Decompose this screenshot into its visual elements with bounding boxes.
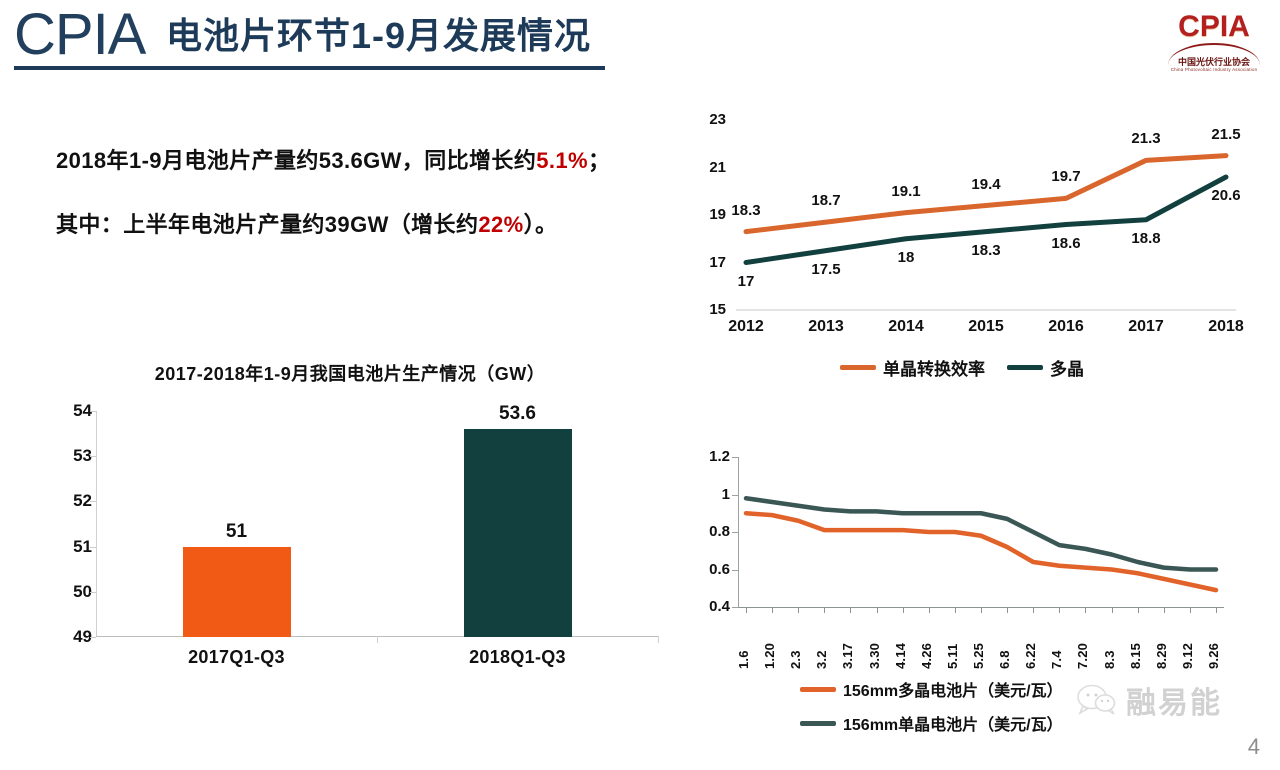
x-tick-label: 8.3	[1102, 650, 1117, 669]
production-bar-chart-title: 2017-2018年1-9月我国电池片生产情况（GW）	[24, 360, 676, 386]
y-tick	[90, 501, 96, 502]
y-tick-label: 1	[690, 486, 730, 504]
y-tick	[90, 637, 96, 638]
x-tick-label: 3.17	[840, 643, 855, 669]
slide: CPIA 电池片环节1-9月发展情况 CPIA 中国光伏行业协会 China P…	[0, 0, 1280, 770]
production-bar-chart-y-axis	[96, 411, 97, 637]
series-line	[746, 513, 1216, 590]
x-tick	[798, 607, 799, 613]
x-tick-label: 3.30	[867, 643, 882, 669]
data-point-label: 18	[871, 249, 941, 266]
x-tick	[746, 607, 747, 613]
x-tick-label: 5.25	[971, 643, 986, 669]
y-tick	[732, 607, 738, 608]
data-point-label: 18.8	[1111, 230, 1181, 247]
summary-line-1: 2018年1-9月电池片产量约53.6GW，同比增长约5.1%；	[56, 146, 676, 176]
x-tick	[850, 607, 851, 613]
summary-line-2: 其中：上半年电池片产量约39GW（增长约22%）。	[56, 210, 676, 240]
x-tick	[955, 607, 956, 613]
page-title: 电池片环节1-9月发展情况	[166, 14, 591, 58]
x-tick	[1190, 607, 1191, 613]
data-point-label: 20.6	[1191, 187, 1261, 204]
y-tick	[90, 411, 96, 412]
x-tick-label: 6.22	[1023, 643, 1038, 669]
x-tick-label: 1.20	[762, 643, 777, 669]
x-tick-label: 7.4	[1049, 650, 1064, 669]
x-tick-label: 2014	[871, 318, 941, 336]
x-tick	[772, 607, 773, 613]
x-tick-label: 9.12	[1180, 643, 1195, 669]
x-tick	[1033, 607, 1034, 613]
page-number: 4	[1248, 734, 1260, 760]
conversion-efficiency-lines	[736, 120, 1236, 310]
legend-label: 单晶转换效率	[883, 355, 985, 380]
x-tick	[1059, 607, 1060, 613]
data-point-label: 21.3	[1111, 130, 1181, 147]
cell-price-x-axis-labels: 1.61.202.33.23.173.304.144.265.115.256.8…	[738, 615, 1224, 669]
cell-price-plot	[738, 457, 1224, 607]
y-tick	[90, 592, 96, 593]
x-tick	[1164, 607, 1165, 613]
x-tick	[981, 607, 982, 613]
x-tick	[877, 607, 878, 613]
y-tick-label: 0.6	[690, 561, 730, 579]
y-tick	[90, 456, 96, 457]
x-tick-label: 2016	[1031, 318, 1101, 336]
x-tick	[658, 636, 659, 643]
x-tick	[1085, 607, 1086, 613]
cpia-logo-chinese-name: 中国光伏行业协会	[1164, 57, 1264, 67]
cpia-logo-acronym: CPIA	[1164, 12, 1264, 42]
x-tick-label: 4.14	[893, 643, 908, 669]
x-tick	[1007, 607, 1008, 613]
legend-swatch	[840, 365, 876, 370]
legend-item: 156mm单晶电池片（美元/瓦）	[800, 711, 1063, 735]
bar-2017Q1-Q3	[183, 547, 291, 637]
y-tick-label: 54	[48, 401, 92, 421]
legend-item: 156mm多晶电池片（美元/瓦）	[800, 677, 1063, 701]
x-tick-label: 8.15	[1128, 643, 1143, 669]
summary-line-2-pre: 其中：上半年电池片产量约39GW（增长约	[56, 212, 478, 237]
legend-swatch	[800, 721, 836, 726]
y-tick-label: 51	[48, 537, 92, 557]
y-tick-label: 21	[690, 159, 726, 177]
y-tick-label: 1.2	[690, 448, 730, 466]
y-tick-label: 0.4	[690, 598, 730, 616]
header-underline-extension	[150, 66, 605, 70]
summary-line-2-highlight: 22%	[478, 212, 523, 237]
x-tick-label: 3.2	[814, 650, 829, 669]
slide-header: CPIA 电池片环节1-9月发展情况 CPIA 中国光伏行业协会 China P…	[0, 0, 1280, 88]
legend-label: 156mm多晶电池片（美元/瓦）	[843, 677, 1063, 701]
conversion-efficiency-plot	[736, 120, 1236, 310]
x-tick	[903, 607, 904, 613]
legend-swatch	[1007, 365, 1043, 370]
x-tick-label: 4.26	[919, 643, 934, 669]
x-tick-label: 2017	[1111, 318, 1181, 336]
data-point-label: 17	[711, 273, 781, 290]
summary-text-block: 2018年1-9月电池片产量约53.6GW，同比增长约5.1%； 其中：上半年电…	[56, 146, 676, 274]
y-tick-label: 0.8	[690, 523, 730, 541]
x-tick-label: 2015	[951, 318, 1021, 336]
x-tick-label: 7.20	[1075, 643, 1090, 669]
x-tick	[1216, 607, 1217, 613]
y-tick-label: 50	[48, 582, 92, 602]
cpia-wordmark: CPIA	[14, 6, 145, 64]
x-tick-label: 8.29	[1154, 643, 1169, 669]
y-tick-label: 23	[690, 111, 726, 129]
x-tick-label: 9.26	[1206, 643, 1221, 669]
data-point-label: 19.4	[951, 176, 1021, 193]
x-tick-label: 2018	[1191, 318, 1261, 336]
x-tick	[1112, 607, 1113, 613]
cpia-logo-english-name: China Photovoltaic Industry Association	[1164, 67, 1264, 73]
data-point-label: 18.7	[791, 192, 861, 209]
legend-item: 多晶	[1007, 355, 1084, 380]
y-tick	[90, 547, 96, 548]
legend-item: 单晶转换效率	[840, 355, 985, 380]
summary-line-1-highlight: 5.1%	[536, 148, 588, 173]
production-bar-chart: 2017-2018年1-9月我国电池片生产情况（GW） 545352515049…	[24, 355, 676, 695]
bar-value-label: 53.6	[458, 403, 578, 425]
cell-price-legend: 156mm多晶电池片（美元/瓦）156mm单晶电池片（美元/瓦）	[800, 677, 1063, 745]
x-tick-label: 2.3	[788, 650, 803, 669]
x-tick-label: 2013	[791, 318, 861, 336]
summary-line-2-post: ）。	[524, 212, 558, 237]
bar-2018Q1-Q3	[464, 429, 572, 637]
data-point-label: 17.5	[791, 261, 861, 278]
data-point-label: 19.1	[871, 183, 941, 200]
x-tick-label: 2017Q1-Q3	[137, 647, 337, 668]
watermark: 融易能	[1076, 678, 1222, 722]
x-tick	[1138, 607, 1139, 613]
bar-value-label: 51	[177, 521, 297, 543]
data-point-label: 21.5	[1191, 126, 1261, 143]
watermark-text: 融易能	[1126, 678, 1222, 722]
x-tick	[929, 607, 930, 613]
y-tick-label: 17	[690, 254, 726, 272]
y-tick-label: 15	[690, 301, 726, 319]
conversion-efficiency-legend: 单晶转换效率多晶	[840, 355, 1106, 381]
legend-swatch	[800, 687, 836, 692]
wechat-icon	[1076, 684, 1116, 716]
summary-line-1-post: ；	[588, 148, 610, 173]
x-tick	[824, 607, 825, 613]
summary-line-1-pre: 2018年1-9月电池片产量约53.6GW，同比增长约	[56, 148, 536, 173]
y-tick-label: 53	[48, 446, 92, 466]
x-tick	[377, 636, 378, 643]
x-tick-label: 1.6	[736, 650, 751, 669]
x-tick-label: 6.8	[997, 650, 1012, 669]
data-point-label: 18.3	[951, 242, 1021, 259]
conversion-efficiency-chart: 2321191715 18.318.719.119.419.721.321.51…	[690, 110, 1260, 400]
y-tick-label: 52	[48, 491, 92, 511]
data-point-label: 18.6	[1031, 235, 1101, 252]
data-point-label: 18.3	[711, 202, 781, 219]
y-tick-label: 49	[48, 627, 92, 647]
cpia-association-logo: CPIA 中国光伏行业协会 China Photovoltaic Industr…	[1164, 4, 1264, 70]
production-bar-chart-y-axis-labels: 545352515049	[48, 401, 92, 647]
legend-label: 156mm单晶电池片（美元/瓦）	[843, 711, 1063, 735]
x-tick-label: 5.11	[945, 644, 960, 669]
data-point-label: 19.7	[1031, 168, 1101, 185]
legend-label: 多晶	[1050, 355, 1084, 380]
cell-price-lines	[738, 457, 1224, 607]
conversion-efficiency-x-axis-labels: 2012201320142015201620172018	[736, 318, 1236, 344]
x-tick-label: 2018Q1-Q3	[418, 647, 618, 668]
x-tick-label: 2012	[711, 318, 781, 336]
